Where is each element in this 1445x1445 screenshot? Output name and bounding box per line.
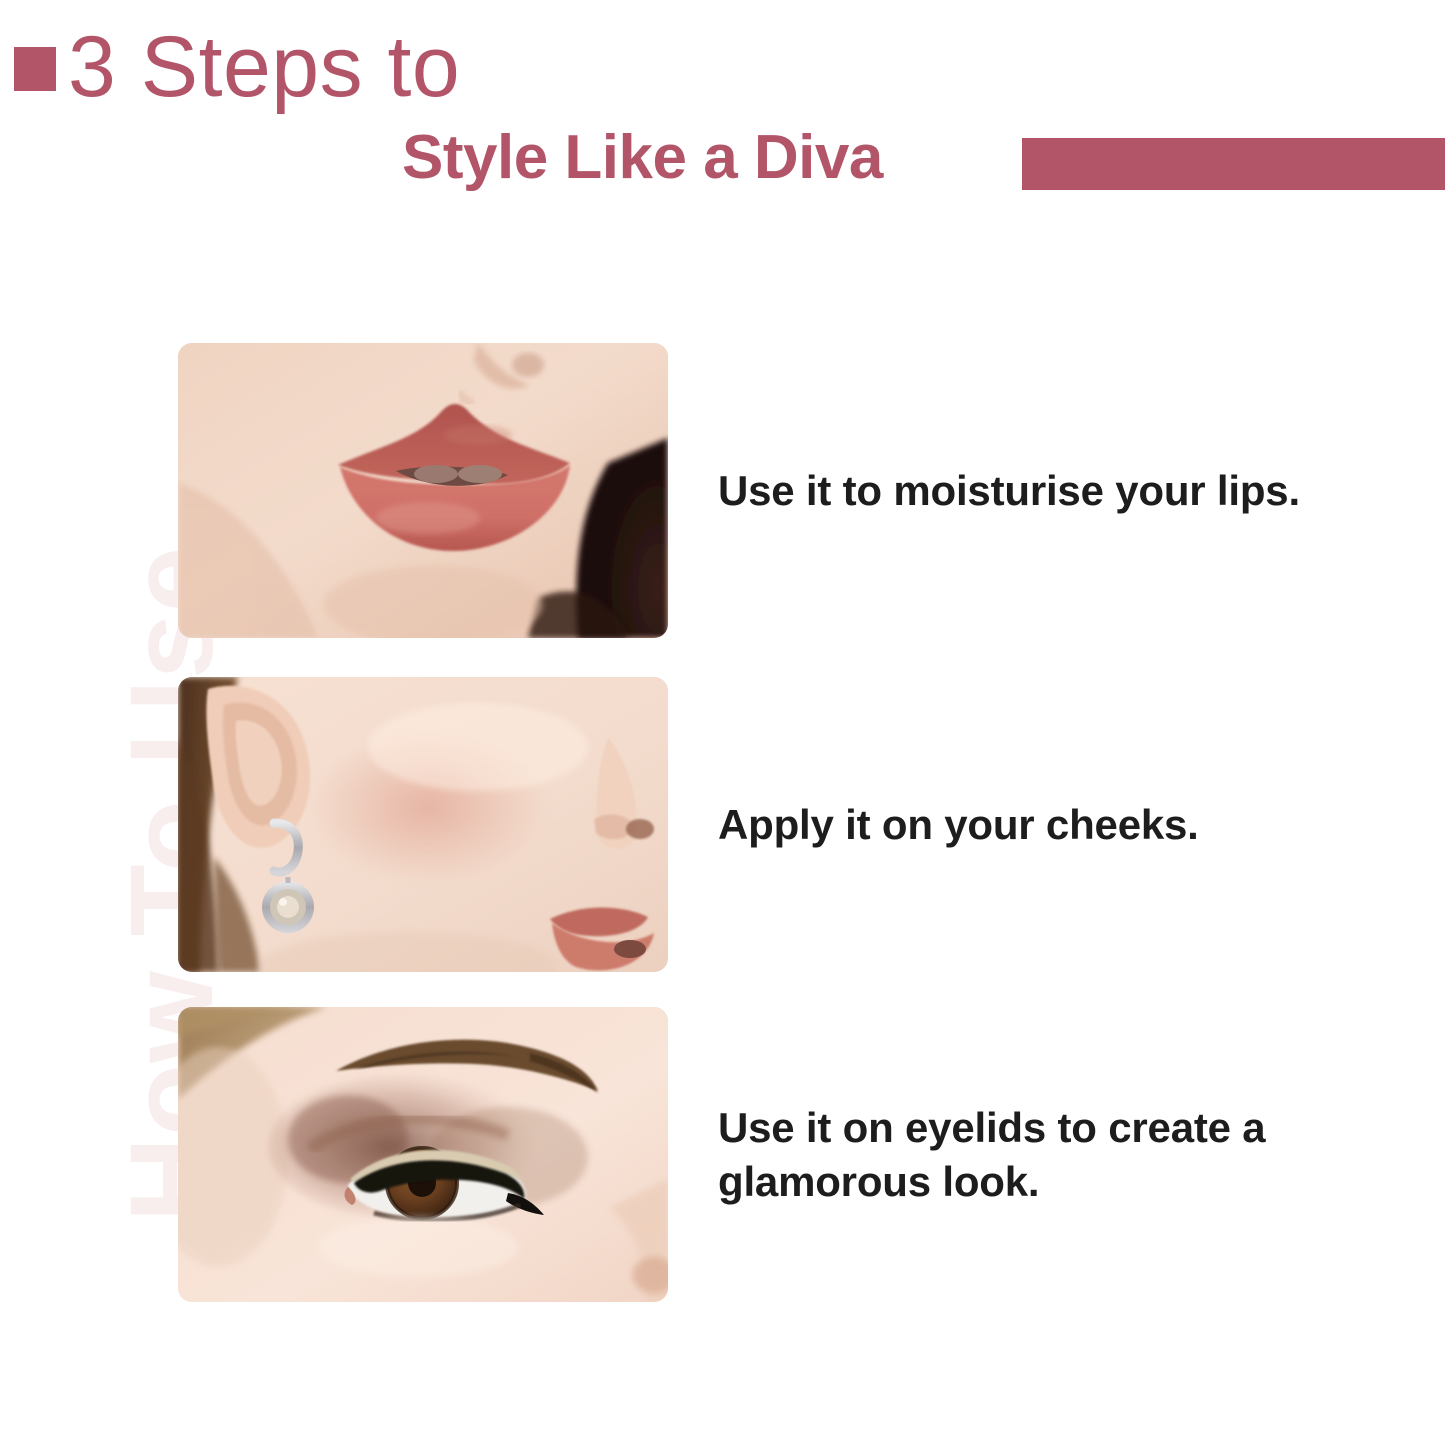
header: 3 Steps to Style Like a Diva <box>0 0 1445 300</box>
cheek-illustration <box>178 677 668 972</box>
lips-photo <box>178 343 668 638</box>
step-row: Apply it on your cheeks. <box>178 677 1408 972</box>
step-caption: Use it to moisturise your lips. <box>718 464 1300 518</box>
page-title-line-1: 3 Steps to <box>68 22 460 112</box>
lips-illustration <box>178 343 668 638</box>
step-row: Use it to moisturise your lips. <box>178 343 1408 638</box>
eye-illustration <box>178 1007 668 1302</box>
step-caption: Use it on eyelids to create a glamorous … <box>718 1101 1408 1209</box>
step-caption: Apply it on your cheeks. <box>718 798 1199 852</box>
accent-square-marker <box>14 47 56 91</box>
accent-bar-marker <box>1022 138 1445 190</box>
page-title-line-2: Style Like a Diva <box>402 127 883 189</box>
eye-photo <box>178 1007 668 1302</box>
cheek-photo <box>178 677 668 972</box>
step-row: Use it on eyelids to create a glamorous … <box>178 1007 1408 1302</box>
